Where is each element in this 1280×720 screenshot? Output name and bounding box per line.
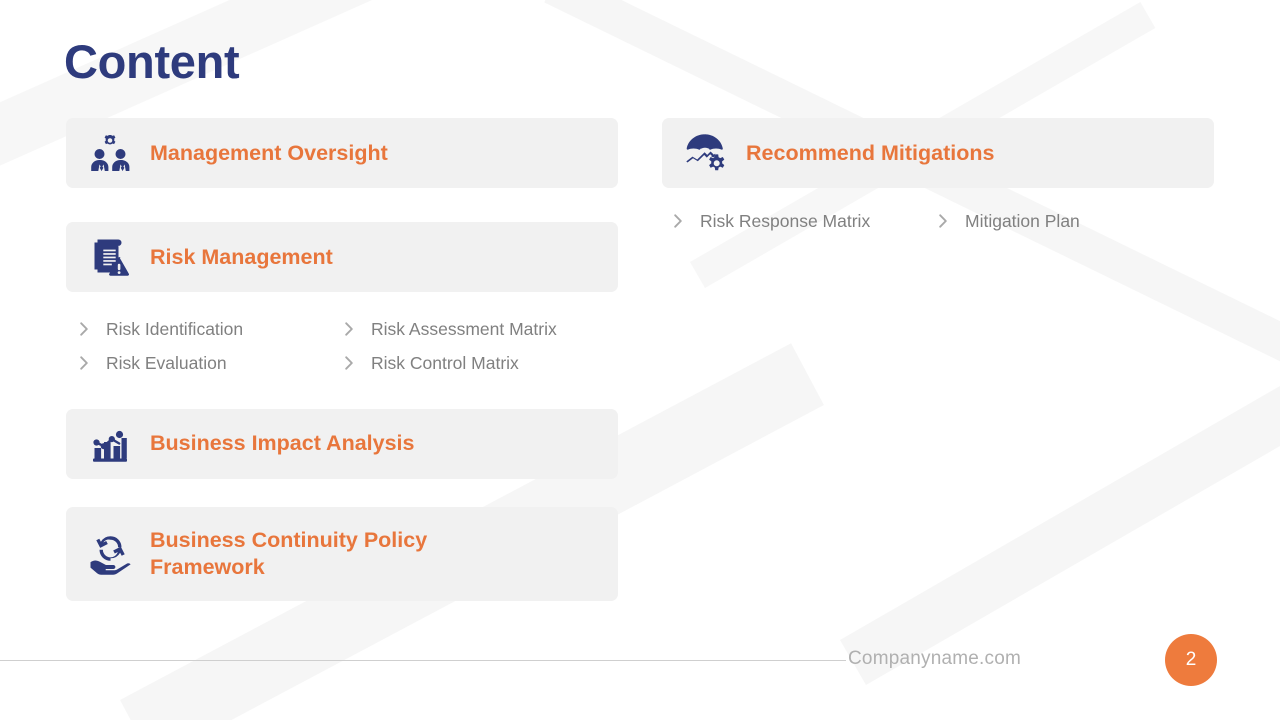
subitem-mitigation-plan[interactable]: Mitigation Plan (939, 210, 1214, 233)
hand-refresh-icon (84, 531, 136, 577)
section-card-business-continuity-policy-framework[interactable]: Business Continuity PolicyFramework (66, 507, 618, 601)
chevron-right-icon (345, 322, 371, 336)
subitem-label: Mitigation Plan (965, 210, 1080, 233)
watermark-band (840, 330, 1280, 685)
chevron-right-icon (80, 356, 106, 370)
bar-chart-trend-icon (84, 421, 136, 467)
right-column: Recommend Mitigations Risk Response Matr… (662, 118, 1214, 233)
chevron-right-icon (939, 214, 965, 228)
chevron-right-icon (674, 214, 700, 228)
slide-canvas: Content Management Oversight (0, 0, 1280, 720)
section-title: Business Impact Analysis (150, 430, 414, 456)
subitem-grid-recommend-mitigations: Risk Response Matrix Mitigation Plan (662, 210, 1214, 233)
section-title-line2: Framework (150, 555, 265, 579)
spacer (66, 375, 618, 409)
section-title: Risk Management (150, 244, 333, 270)
section-title: Recommend Mitigations (746, 140, 994, 166)
subitem-label: Risk Response Matrix (700, 210, 870, 233)
section-card-risk-management[interactable]: Risk Management (66, 222, 618, 292)
document-warning-icon (84, 234, 136, 280)
subitem-label: Risk Assessment Matrix (371, 318, 557, 341)
subitem-risk-control-matrix[interactable]: Risk Control Matrix (345, 352, 618, 375)
section-title: Business Continuity PolicyFramework (150, 527, 427, 579)
management-team-gear-icon (84, 130, 136, 176)
subitem-risk-assessment-matrix[interactable]: Risk Assessment Matrix (345, 318, 618, 341)
subitem-label: Risk Control Matrix (371, 352, 519, 375)
umbrella-trend-gear-icon (680, 130, 732, 176)
section-card-management-oversight[interactable]: Management Oversight (66, 118, 618, 188)
page-title: Content (64, 36, 239, 88)
subitem-grid-risk-management: Risk Identification Risk Assessment Matr… (66, 318, 618, 375)
section-title-line1: Business Continuity Policy (150, 528, 427, 552)
footer-company-name: Companyname.com (848, 648, 1021, 670)
subitem-risk-identification[interactable]: Risk Identification (80, 318, 345, 341)
spacer (66, 479, 618, 507)
subitem-label: Risk Identification (106, 318, 243, 341)
spacer (66, 188, 618, 222)
section-card-business-impact-analysis[interactable]: Business Impact Analysis (66, 409, 618, 479)
section-title: Management Oversight (150, 140, 388, 166)
chevron-right-icon (80, 322, 106, 336)
page-number-badge: 2 (1165, 634, 1217, 686)
chevron-right-icon (345, 356, 371, 370)
left-column: Management Oversight (66, 118, 618, 601)
subitem-risk-evaluation[interactable]: Risk Evaluation (80, 352, 345, 375)
footer-divider (0, 660, 846, 661)
subitem-label: Risk Evaluation (106, 352, 227, 375)
subitem-risk-response-matrix[interactable]: Risk Response Matrix (674, 210, 939, 233)
section-card-recommend-mitigations[interactable]: Recommend Mitigations (662, 118, 1214, 188)
